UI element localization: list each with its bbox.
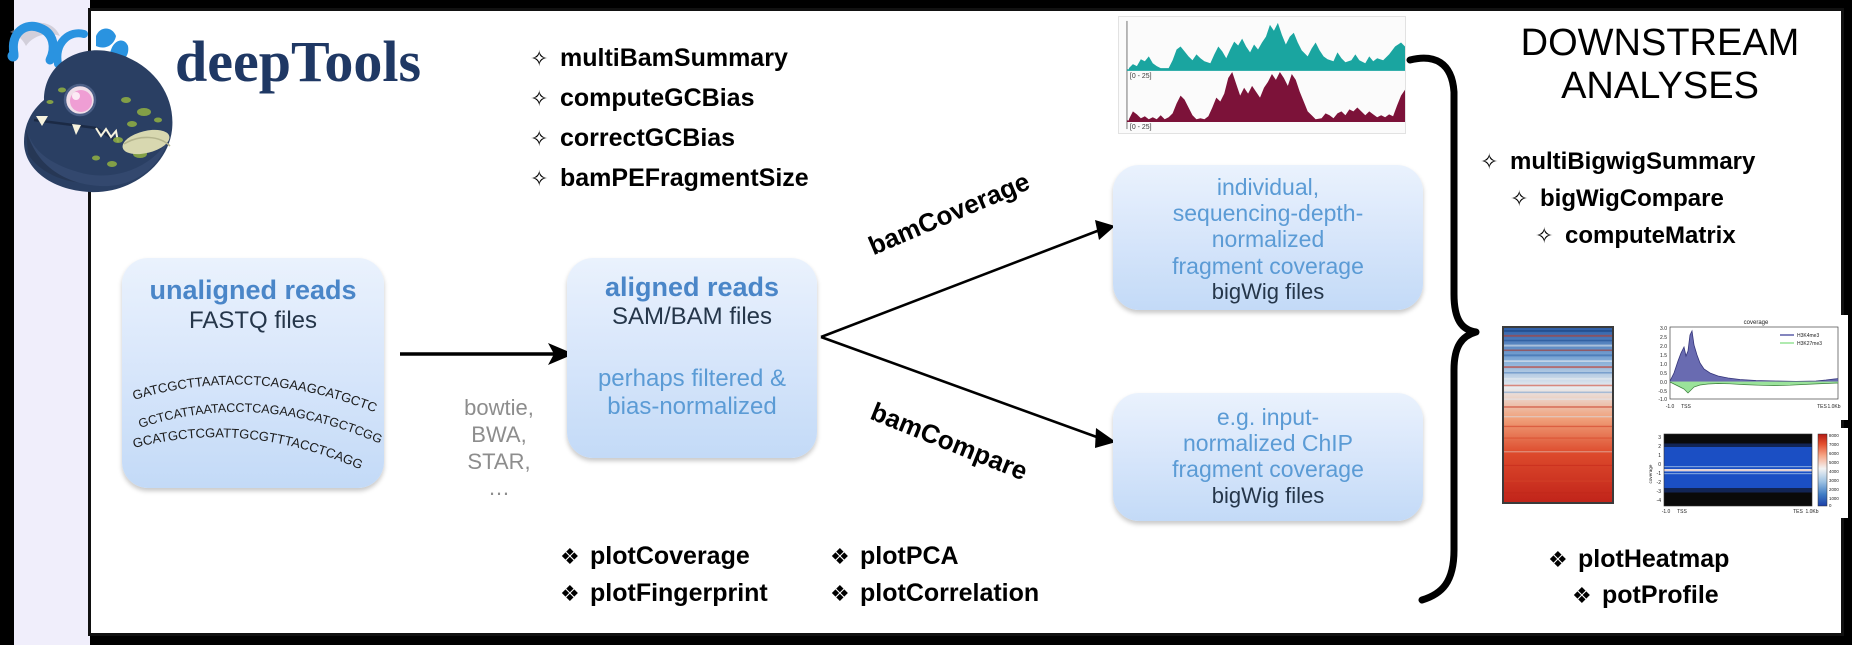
- plot-tool-list-left: ❖ plotCoverage ❖ plotFingerprint: [560, 542, 768, 616]
- svg-text:3: 3: [1658, 435, 1661, 441]
- box-line-4: fragment coverage: [1113, 253, 1423, 279]
- downstream-heading-line-2: ANALYSES: [1480, 65, 1840, 108]
- tool-label: correctGCBias: [560, 124, 735, 153]
- box-subtitle: bigWig files: [1113, 483, 1423, 509]
- floral-diamond-bullet-icon: ❖: [560, 581, 590, 607]
- svg-text:TES: TES: [1793, 509, 1803, 515]
- svg-text:8000: 8000: [1829, 433, 1839, 438]
- svg-text:-1.0: -1.0: [1662, 509, 1671, 515]
- box-line-2: normalized ChIP: [1113, 430, 1423, 456]
- svg-text:-4: -4: [1657, 498, 1662, 504]
- svg-text:1000: 1000: [1829, 496, 1839, 501]
- box-note: perhaps filtered & bias-normalized: [567, 365, 817, 422]
- list-item[interactable]: ✧ computeGCBias: [530, 84, 809, 113]
- density-plot-thumbnail: coverage 3 2 1 0 -1 -2 -3 -4 -1.0 TSS TE…: [1626, 428, 1848, 518]
- svg-text:2000: 2000: [1829, 487, 1839, 492]
- box-body: individual, sequencing-depth- normalized…: [1113, 174, 1423, 279]
- svg-text:TSS: TSS: [1681, 404, 1691, 410]
- box-unaligned-reads: unaligned reads FASTQ files GATCGCTTAATA…: [122, 258, 384, 488]
- box-aligned-reads: aligned reads SAM/BAM files perhaps filt…: [567, 258, 817, 458]
- svg-text:4000: 4000: [1829, 469, 1839, 474]
- box-note-line-2: bias-normalized: [567, 393, 817, 421]
- list-item[interactable]: ❖ plotCorrelation: [830, 579, 1039, 608]
- svg-text:3.0: 3.0: [1660, 326, 1667, 332]
- list-item[interactable]: ❖ plotPCA: [830, 542, 1039, 571]
- svg-text:2.0: 2.0: [1660, 344, 1667, 350]
- tool-label: computeGCBias: [560, 84, 754, 113]
- downstream-heading-line-1: DOWNSTREAM: [1480, 22, 1840, 65]
- svg-text:TES: TES: [1817, 404, 1827, 410]
- deeptools-whale-logo: [0, 2, 182, 202]
- profile-title: coverage: [1744, 320, 1769, 326]
- svg-text:-1.0: -1.0: [1658, 397, 1667, 403]
- dna-sequence-3: GCATGCTCGATTGCGTTTACCTCAGG: [131, 425, 365, 472]
- list-item[interactable]: ✧ bamPEFragmentSize: [530, 164, 809, 193]
- list-item[interactable]: ✧ correctGCBias: [530, 124, 809, 153]
- aligner-line-4: …: [444, 475, 554, 502]
- svg-text:1.0: 1.0: [1660, 362, 1667, 368]
- signal-heatmap-thumbnail: [1502, 326, 1614, 504]
- box-title: aligned reads: [567, 272, 817, 303]
- tool-label: plotPCA: [860, 542, 959, 571]
- list-item[interactable]: ✧ multiBigwigSummary: [1480, 148, 1840, 176]
- box-subtitle: FASTQ files: [122, 307, 384, 335]
- page-title: deepTools: [175, 28, 421, 95]
- box-line-3: fragment coverage: [1113, 456, 1423, 482]
- svg-text:1: 1: [1658, 453, 1661, 459]
- floral-diamond-bullet-icon: ❖: [830, 581, 860, 607]
- box-note-line-1: perhaps filtered &: [567, 365, 817, 393]
- svg-text:-2: -2: [1657, 480, 1662, 486]
- aligner-line-2: BWA,: [444, 422, 554, 449]
- tool-label: plotCoverage: [590, 542, 750, 571]
- svg-text:-3: -3: [1657, 489, 1662, 495]
- aligner-tools-label: bowtie, BWA, STAR, …: [444, 395, 554, 502]
- svg-text:5000: 5000: [1829, 460, 1839, 465]
- diamond-bullet-icon: ✧: [530, 166, 560, 192]
- list-item[interactable]: ✧ bigWigCompare: [1510, 185, 1840, 213]
- tool-label: plotFingerprint: [590, 579, 768, 608]
- dna-sequences: GATCGCTTAATACCTCAGAAGCATGCTC GCTCATTAATA…: [122, 356, 384, 476]
- floral-diamond-bullet-icon: ❖: [560, 544, 590, 570]
- profile-plot-thumbnail: coverage 3.0 2.5 2.0 1.5 1.0 0.5 0.0 -0.…: [1626, 315, 1848, 420]
- list-item[interactable]: ❖ plotFingerprint: [560, 579, 768, 608]
- tool-label: multiBigwigSummary: [1510, 148, 1755, 176]
- diamond-bullet-icon: ✧: [530, 86, 560, 112]
- downstream-tool-list: ✧ multiBigwigSummary ✧ bigWigCompare ✧ c…: [1480, 148, 1840, 259]
- svg-text:GCATGCTCGATTGCGTTTACCTCAGG: GCATGCTCGATTGCGTTTACCTCAGG: [131, 425, 365, 472]
- svg-text:6000: 6000: [1829, 451, 1839, 456]
- floral-diamond-bullet-icon: ❖: [830, 544, 860, 570]
- align-arrow: [398, 338, 578, 370]
- density-ylabel: coverage: [1648, 464, 1653, 483]
- diagram-canvas: deepTools ✧ multiBamSummary ✧ computeGCB…: [0, 0, 1852, 645]
- svg-text:1.5: 1.5: [1660, 353, 1667, 359]
- tool-label: plotHeatmap: [1578, 545, 1729, 574]
- fork-arrows: [815, 212, 1125, 462]
- box-title: unaligned reads: [122, 275, 384, 306]
- track-scale-label-1: [0 - 25]: [1130, 73, 1152, 80]
- floral-diamond-bullet-icon: ❖: [1572, 583, 1602, 609]
- downstream-heading: DOWNSTREAM ANALYSES: [1480, 22, 1840, 107]
- tool-label: bamPEFragmentSize: [560, 164, 809, 193]
- list-item[interactable]: ❖ plotHeatmap: [1548, 545, 1830, 574]
- list-item[interactable]: ✧ computeMatrix: [1535, 222, 1840, 250]
- box-line-1: e.g. input-: [1113, 404, 1423, 430]
- tool-label: plotCorrelation: [860, 579, 1039, 608]
- svg-text:2: 2: [1658, 444, 1661, 450]
- svg-text:1.0Kb: 1.0Kb: [1805, 509, 1818, 515]
- list-item[interactable]: ❖ potProfile: [1572, 581, 1830, 610]
- tool-label: bigWigCompare: [1540, 185, 1724, 213]
- box-line-3: normalized: [1113, 226, 1423, 252]
- box-line-2: sequencing-depth-: [1113, 200, 1423, 226]
- floral-diamond-bullet-icon: ❖: [1548, 547, 1578, 573]
- svg-text:0.0: 0.0: [1660, 380, 1667, 386]
- plot-tool-list-right: ❖ plotPCA ❖ plotCorrelation: [830, 542, 1039, 616]
- box-subtitle: SAM/BAM files: [567, 303, 817, 331]
- svg-text:1.0Kb: 1.0Kb: [1827, 404, 1840, 410]
- downstream-plot-tool-list: ❖ plotHeatmap ❖ potProfile: [1530, 545, 1830, 617]
- list-item[interactable]: ✧ multiBamSummary: [530, 44, 809, 73]
- tool-label: multiBamSummary: [560, 44, 788, 73]
- grouping-brace: [1400, 44, 1490, 604]
- tool-label: potProfile: [1602, 581, 1719, 610]
- svg-text:0.5: 0.5: [1660, 371, 1667, 377]
- aligner-line-1: bowtie,: [444, 395, 554, 422]
- svg-text:-0.5: -0.5: [1658, 389, 1667, 395]
- box-chip-bigwig: e.g. input- normalized ChIP fragment cov…: [1113, 393, 1423, 521]
- genome-browser-tracks-thumbnail: [0 - 25] [0 - 25]: [1118, 16, 1406, 134]
- svg-text:3000: 3000: [1829, 478, 1839, 483]
- aligner-line-3: STAR,: [444, 449, 554, 476]
- box-line-1: individual,: [1113, 174, 1423, 200]
- tool-list: ✧ multiBamSummary ✧ computeGCBias ✧ corr…: [530, 44, 809, 204]
- tool-label: computeMatrix: [1565, 222, 1736, 250]
- track-scale-label-2: [0 - 25]: [1130, 124, 1152, 131]
- svg-text:-1.0: -1.0: [1666, 404, 1675, 410]
- diamond-bullet-icon: ✧: [530, 46, 560, 72]
- legend-label-1: H3K4me3: [1797, 333, 1819, 339]
- svg-text:-1: -1: [1657, 471, 1662, 477]
- diamond-bullet-icon: ✧: [1510, 186, 1540, 212]
- svg-text:0: 0: [1658, 462, 1661, 468]
- list-item[interactable]: ❖ plotCoverage: [560, 542, 768, 571]
- box-subtitle: bigWig files: [1113, 279, 1423, 305]
- svg-text:2.5: 2.5: [1660, 335, 1667, 341]
- svg-text:7000: 7000: [1829, 442, 1839, 447]
- svg-text:TSS: TSS: [1677, 509, 1687, 515]
- legend-label-2: H3K27me3: [1797, 341, 1822, 347]
- diamond-bullet-icon: ✧: [1480, 149, 1510, 175]
- box-coverage-bigwig: individual, sequencing-depth- normalized…: [1113, 165, 1423, 310]
- diamond-bullet-icon: ✧: [1535, 223, 1565, 249]
- diamond-bullet-icon: ✧: [530, 126, 560, 152]
- box-body: e.g. input- normalized ChIP fragment cov…: [1113, 404, 1423, 483]
